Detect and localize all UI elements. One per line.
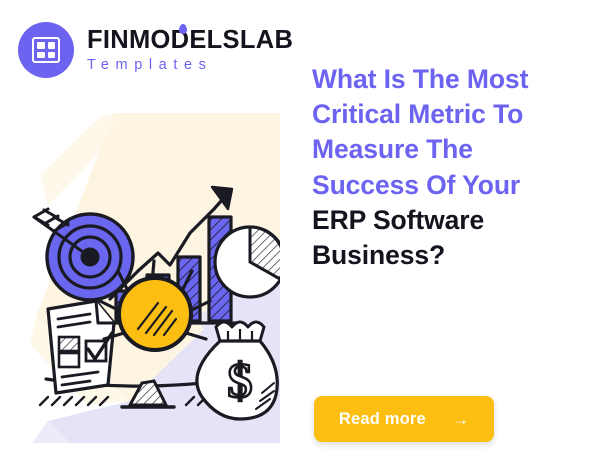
dollar-sign-glyph: $: [228, 352, 253, 408]
grid-cell: [37, 42, 45, 49]
checklist-document-icon: [48, 301, 114, 393]
headline-line-2: Critical Metric To: [312, 99, 523, 129]
brand-name-label: FINMODELSLAB: [87, 26, 293, 54]
hero-illustration-graphic: $: [18, 105, 280, 443]
headline-line-5: ERP Software: [312, 205, 484, 235]
social-media-promo-card: FINMODELSLAB Templates: [0, 0, 600, 464]
headline-block: What Is The Most Critical Metric To Meas…: [312, 62, 582, 273]
headline-line-4: Success Of Your: [312, 170, 520, 200]
grid-cell: [37, 52, 45, 59]
brand-name: FINMODELSLAB: [87, 28, 293, 54]
grid-cell: [48, 42, 56, 49]
read-more-button[interactable]: Read more →: [314, 396, 494, 442]
brand-logo-text: FINMODELSLAB Templates: [87, 28, 293, 73]
droplet-icon: [179, 24, 187, 34]
arrow-right-icon: →: [452, 411, 469, 428]
headline-line-1: What Is The Most: [312, 64, 528, 94]
brand-logo[interactable]: FINMODELSLAB Templates: [18, 22, 293, 78]
brand-subtitle: Templates: [87, 58, 293, 73]
read-more-label: Read more: [339, 410, 426, 429]
headline-line-6: Business?: [312, 240, 445, 270]
headline-line-3: Measure The: [312, 134, 473, 164]
grid-cell: [48, 52, 56, 59]
hero-illustration: $: [18, 105, 280, 443]
logo-mark-icon: [18, 22, 74, 78]
pie-chart-icon: [215, 227, 280, 297]
grid-squares-icon: [32, 37, 60, 63]
page-title: What Is The Most Critical Metric To Meas…: [312, 62, 582, 273]
